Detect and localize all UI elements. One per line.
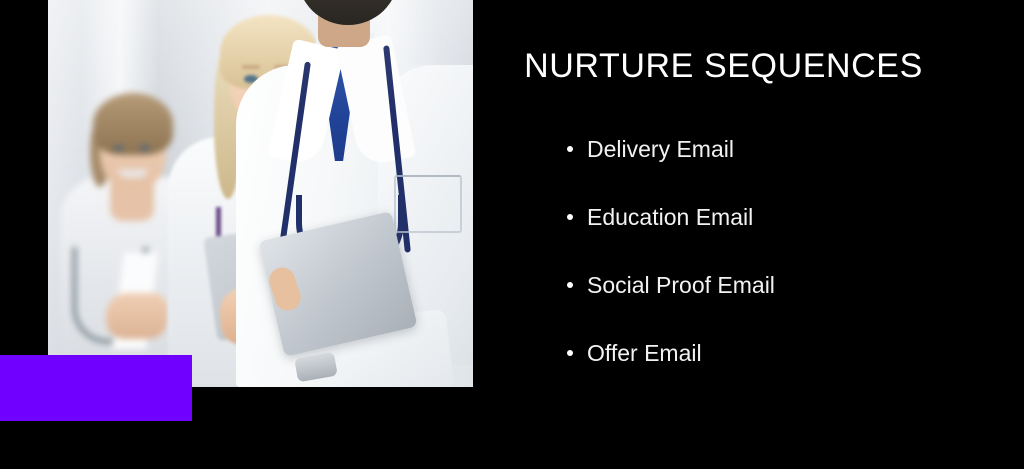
bullet-dot-icon xyxy=(567,282,573,288)
content-column: NURTURE SEQUENCES Delivery Email Educati… xyxy=(505,0,1024,469)
coat-pocket xyxy=(394,175,462,233)
list-item: Social Proof Email xyxy=(561,270,775,338)
list-item: Offer Email xyxy=(561,338,775,406)
eye-right xyxy=(139,145,150,151)
list-item-label: Social Proof Email xyxy=(587,272,775,298)
bullet-dot-icon xyxy=(567,146,573,152)
eye-left xyxy=(113,145,124,151)
list-item-label: Offer Email xyxy=(587,340,702,366)
beard xyxy=(298,0,398,25)
page-title: NURTURE SEQUENCES xyxy=(505,46,942,86)
slide: NURTURE SEQUENCES Delivery Email Educati… xyxy=(0,0,1024,469)
clinician-front xyxy=(244,0,473,387)
list-item: Education Email xyxy=(561,202,775,270)
bullet-list: Delivery Email Education Email Social Pr… xyxy=(561,134,775,406)
bullet-dot-icon xyxy=(567,214,573,220)
hand xyxy=(106,293,168,339)
list-item-label: Education Email xyxy=(587,204,753,230)
hair xyxy=(93,93,173,155)
accent-rectangle xyxy=(0,355,192,421)
mouth xyxy=(118,169,148,178)
team-photo xyxy=(48,0,473,387)
bullet-dot-icon xyxy=(567,350,573,356)
list-item: Delivery Email xyxy=(561,134,775,202)
list-item-label: Delivery Email xyxy=(587,136,734,162)
